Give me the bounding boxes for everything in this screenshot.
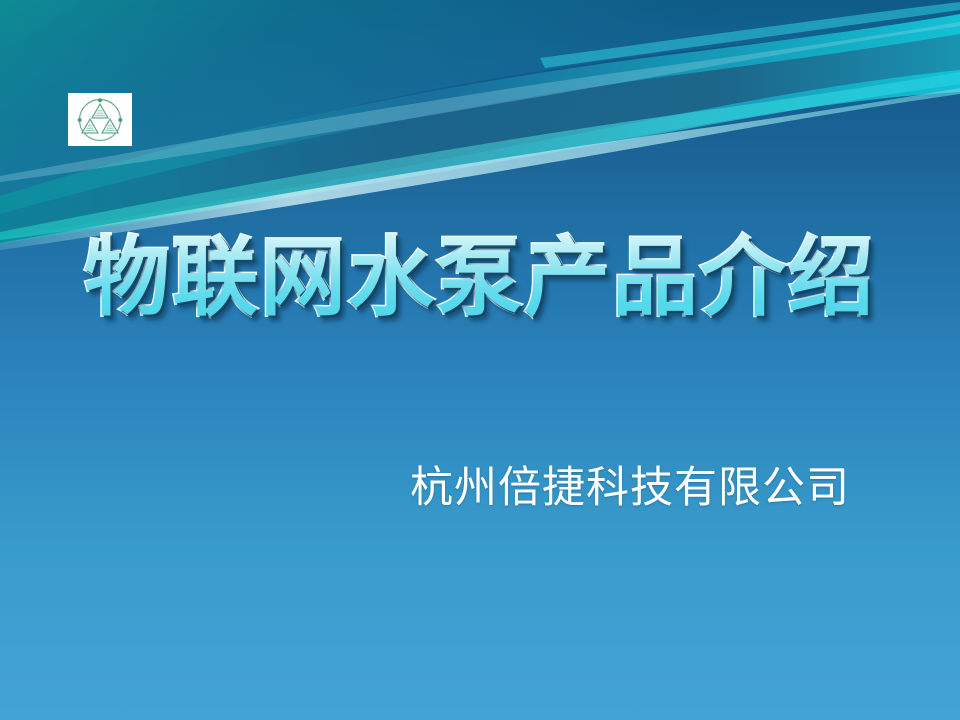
wave-band-upper-teal [0,0,960,222]
slide-subtitle: 杭州倍捷科技有限公司 [360,462,900,514]
wave-highlight-line-secondary [0,22,960,182]
wave-highlight-line [0,88,960,250]
three-triangles-in-circle-icon [75,97,125,143]
slide-title: 物联网水泵产品介绍 物联网水泵产品介绍 [60,228,900,328]
wave-edge-cyan [0,72,960,240]
presentation-slide: 物联网水泵产品介绍 物联网水泵产品介绍 杭州倍捷科技有限公司 [0,0,960,720]
slide-title-text: 物联网水泵产品介绍 [84,228,876,328]
company-logo [68,93,132,146]
slide-subtitle-text: 杭州倍捷科技有限公司 [410,463,850,513]
wave-band-teal [0,14,960,244]
wave-sliver-top-right [540,2,960,68]
wave-band-dark [0,34,960,238]
background-wave-artwork [0,0,960,720]
